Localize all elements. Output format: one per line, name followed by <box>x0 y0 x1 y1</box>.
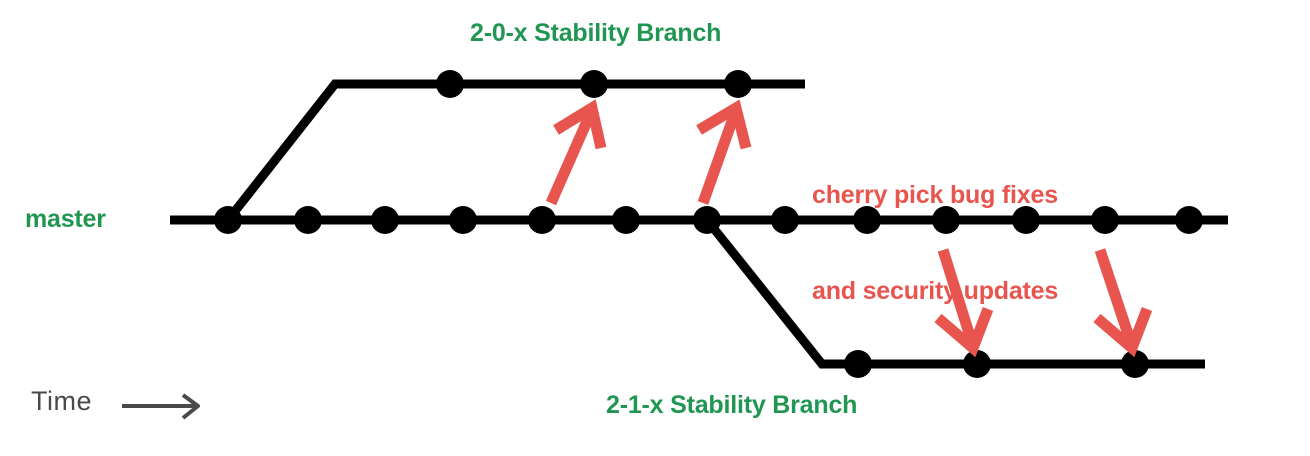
git-branching-diagram: 2-0-x Stability Branch master cherry pic… <box>0 0 1310 456</box>
commit-dot <box>449 206 477 234</box>
commit-dot <box>371 206 399 234</box>
commit-dot <box>1091 206 1119 234</box>
commit-dot <box>294 206 322 234</box>
branch-label-2-0-x: 2-0-x Stability Branch <box>470 19 721 48</box>
commit-dot <box>580 70 608 98</box>
commit-dot <box>693 206 721 234</box>
diagram-canvas <box>0 0 1310 456</box>
branch-label-master: master <box>25 205 106 234</box>
cherry-pick-annotation-line1: cherry pick bug fixes <box>812 179 1058 211</box>
commit-dot <box>436 70 464 98</box>
cherry-pick-annotation: cherry pick bug fixes and security updat… <box>812 115 1058 371</box>
time-axis-label: Time <box>31 386 92 417</box>
cherry-pick-annotation-line2: and security updates <box>812 275 1058 307</box>
branch-label-2-1-x: 2-1-x Stability Branch <box>606 391 857 420</box>
commit-dot <box>771 206 799 234</box>
commit-dot <box>724 70 752 98</box>
commit-dot <box>528 206 556 234</box>
commit-dot <box>214 206 242 234</box>
commit-dot <box>1175 206 1203 234</box>
commit-dot <box>612 206 640 234</box>
